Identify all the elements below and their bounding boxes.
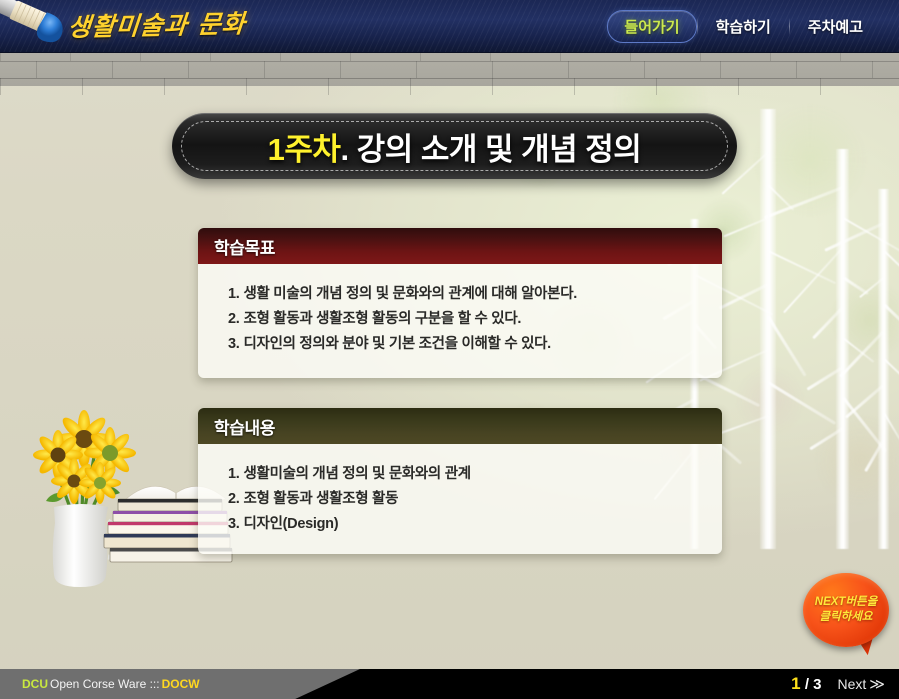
- title-week: 1주차: [268, 132, 341, 167]
- site-footer: DCU Open Corse Ware ::: DOCW 1 / 3 Next …: [0, 669, 899, 699]
- nav-item-learn[interactable]: 학습하기: [698, 10, 789, 43]
- title-rest: . 강의 소개 및 개념 정의: [340, 132, 641, 167]
- chevron-right-double-icon: ≫: [869, 675, 885, 693]
- slide-title-banner: 1주차. 강의 소개 및 개념 정의: [172, 113, 737, 179]
- callout-line-2: 클릭하세요: [820, 610, 873, 625]
- page-title: 1주차. 강의 소개 및 개념 정의: [268, 124, 642, 169]
- panel-body: 1.생활 미술의 개념 정의 및 문화와의 관계에 대해 알아본다. 2.조형 …: [198, 264, 722, 378]
- list-item-text: 조형 활동과 생활조형 활동: [244, 491, 399, 507]
- site-header: 생활미술과 문화 들어가기 학습하기 주차예고: [0, 0, 899, 53]
- list-item-number: 2.: [228, 311, 240, 327]
- list-item: 2.조형 활동과 생활조형 활동: [228, 487, 700, 512]
- list-item-number: 3.: [228, 516, 240, 532]
- list-item-text: 생활 미술의 개념 정의 및 문화와의 관계에 대해 알아본다.: [244, 286, 577, 302]
- list-item-number: 2.: [228, 491, 240, 507]
- list-item-text: 조형 활동과 생활조형 활동의 구분을 할 수 있다.: [244, 311, 522, 327]
- callout-text: NEXT버튼을 클릭하세요: [803, 573, 889, 647]
- list-item: 3.디자인(Design): [228, 512, 700, 537]
- callout-line-1: NEXT버튼을: [815, 595, 877, 610]
- learning-objectives-panel: 학습목표 1.생활 미술의 개념 정의 및 문화와의 관계에 대해 알아본다. …: [198, 228, 722, 378]
- list-item: 2.조형 활동과 생활조형 활동의 구분을 할 수 있다.: [228, 307, 700, 332]
- list-item-text: 생활미술의 개념 정의 및 문화와의 관계: [244, 466, 471, 482]
- next-button-callout[interactable]: NEXT버튼을 클릭하세요: [803, 573, 889, 647]
- brand-dcu: DCU: [22, 677, 48, 691]
- slide-stage: 생활미술과 문화 들어가기 학습하기 주차예고 1주차. 강의 소개 및 개념 …: [0, 0, 899, 699]
- brand-ocw: Open Corse Ware :::: [50, 677, 160, 691]
- learning-contents-panel: 학습내용 1.생활미술의 개념 정의 및 문화와의 관계 2.조형 활동과 생활…: [198, 408, 722, 554]
- nav-item-enter[interactable]: 들어가기: [607, 10, 696, 43]
- list-item: 1.생활 미술의 개념 정의 및 문화와의 관계에 대해 알아본다.: [228, 282, 700, 307]
- main-navigation: 들어가기 학습하기 주차예고: [607, 0, 881, 53]
- page-indicator: 1 / 3: [791, 674, 821, 694]
- nav-item-preview[interactable]: 주차예고: [790, 10, 881, 43]
- list-item-number: 1.: [228, 286, 240, 302]
- next-button-label: Next: [838, 676, 867, 692]
- list-item: 3.디자인의 정의와 분야 및 기본 조건을 이해할 수 있다.: [228, 332, 700, 357]
- footer-brand: DCU Open Corse Ware ::: DOCW: [0, 669, 360, 699]
- panel-heading: 학습내용: [198, 408, 722, 444]
- list-item-number: 3.: [228, 336, 240, 352]
- brand-docw: DOCW: [162, 677, 200, 691]
- panel-body: 1.생활미술의 개념 정의 및 문화와의 관계 2.조형 활동과 생활조형 활동…: [198, 444, 722, 554]
- list-item-text: 디자인(Design): [244, 516, 339, 532]
- list-item: 1.생활미술의 개념 정의 및 문화와의 관계: [228, 462, 700, 487]
- page-total: / 3: [805, 676, 822, 693]
- footer-controls: 1 / 3 Next ≫: [791, 669, 885, 699]
- course-title-logo: 생활미술과 문화: [66, 4, 247, 44]
- page-current: 1: [791, 674, 800, 693]
- next-button[interactable]: Next ≫: [838, 675, 886, 693]
- list-item-number: 1.: [228, 466, 240, 482]
- list-item-text: 디자인의 정의와 분야 및 기본 조건을 이해할 수 있다.: [244, 336, 551, 352]
- panel-heading: 학습목표: [198, 228, 722, 264]
